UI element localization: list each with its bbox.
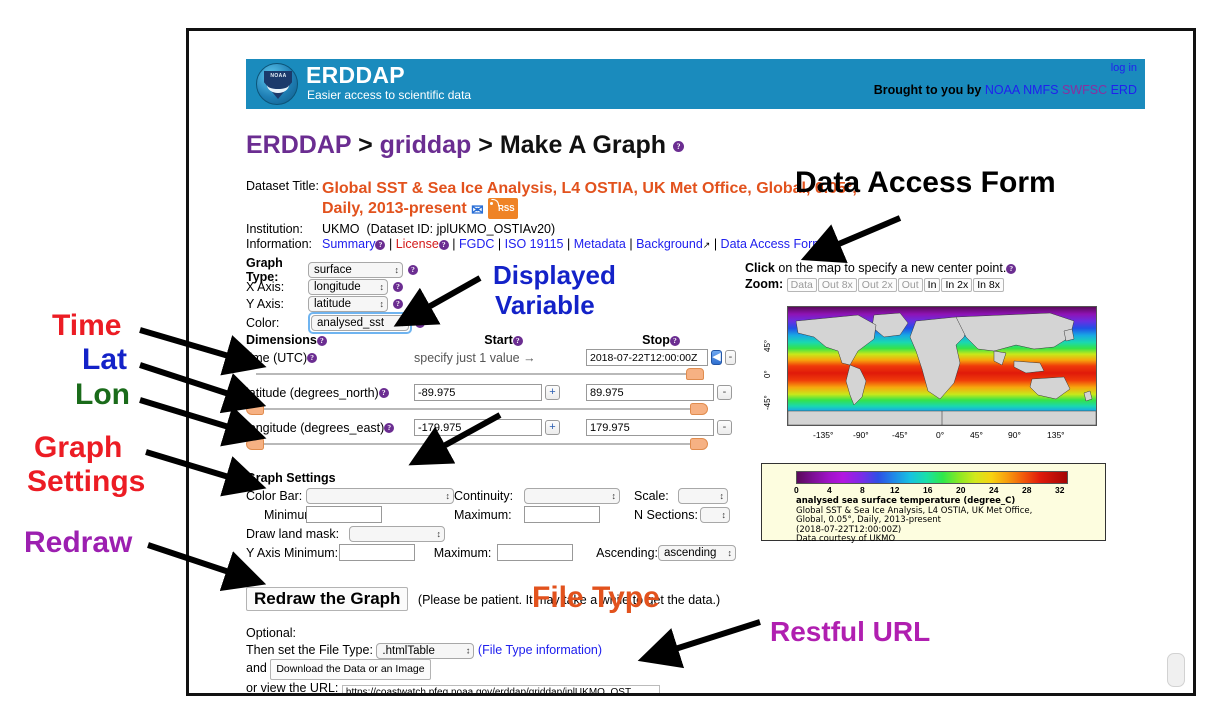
sst-heatmap-svg [788,307,1096,425]
optional-section: Optional: Then set the File Type: .htmlT… [246,625,660,696]
graph-type-row: Graph Type: surface ? [246,261,716,278]
stop-help-icon[interactable]: ? [670,336,680,346]
latitude-minus-button[interactable]: - [717,385,732,400]
url-row: or view the URL: [246,680,660,696]
dimensions-header-label: Dimensions? [246,333,421,347]
app-subtitle: Easier access to scientific data [307,88,471,102]
color-help-icon[interactable]: ? [415,318,425,328]
land-mask-label: Draw land mask: [246,527,349,541]
start-header-label: Start? [421,333,586,347]
rss-icon[interactable]: RSS [488,198,517,219]
colorbar [796,471,1068,484]
map-xtick-90: 90° [1008,430,1021,440]
time-help-icon[interactable]: ? [307,353,317,363]
annotation-displayed-variable-line2: Variable [495,292,595,318]
longitude-slider-thumb-left[interactable] [246,438,264,450]
annotation-restful-url: Restful URL [770,618,930,646]
y-axis-min-row: Y Axis Minimum: Maximum: Ascending: asce… [246,543,736,562]
time-slider-thumb[interactable] [686,368,704,380]
graph-type-form: Graph Type: surface ? X Axis: longitude … [246,261,716,333]
colorbar-caption: analysed sea surface temperature (degree… [796,497,1032,545]
colorbar-tick-8: 8 [860,485,865,495]
time-stop-cell: ◀ - [586,349,736,366]
longitude-stop-cell: - [586,419,736,436]
zoom-out-button[interactable]: Out [898,278,923,292]
dimensions-header: Dimensions? Start? Stop? [246,333,736,347]
map-xtick-0: 0° [936,430,944,440]
y-axis-select[interactable]: latitude [308,296,388,312]
n-sections-select[interactable] [700,507,730,523]
email-icon[interactable]: ✉ [471,201,484,220]
land-mask-select[interactable] [349,526,445,542]
sst-map-figure[interactable]: 45° 0° -45° [761,306,1106,458]
external-link-icon: ↗ [703,240,711,250]
file-type-row: Then set the File Type: .htmlTable (File… [246,642,660,659]
iso19115-link[interactable]: ISO 19115 [505,237,564,251]
maximum-label: Maximum: [454,508,524,522]
annotation-graph-settings-line1: Graph [34,433,122,463]
map-xtick-m45: -45° [892,430,908,440]
graph-settings-title: Graph Settings [246,471,736,485]
map-ytick-45: 45° [763,340,772,352]
annotation-time: Time [52,311,121,341]
zoom-controls: Zoom: DataOut 8xOut 2xOutInIn 2xIn 8x [745,277,1117,292]
file-type-information-link[interactable]: (File Type information) [478,643,602,657]
color-bar-label: Color Bar: [246,489,306,503]
map-xtick-45: 45° [970,430,983,440]
swfsc-link[interactable]: SWFSC [1062,83,1107,97]
colorbar-tick-28: 28 [1022,485,1031,495]
dimensions-help-icon[interactable]: ? [317,336,327,346]
click-help-icon[interactable]: ? [1006,264,1016,274]
graph-type-help-icon[interactable]: ? [408,265,418,275]
annotation-displayed-variable-line1: Displayed [493,262,616,288]
longitude-stop-input[interactable] [586,419,714,436]
information-label: Information: [246,237,322,251]
breadcrumb-sep-1: > [358,131,373,159]
redraw-the-graph-button[interactable]: Redraw the Graph [246,587,408,611]
restful-url-input[interactable] [342,685,660,697]
annotation-graph-settings-line2: Settings [27,467,145,497]
log-in-link[interactable]: log in [1111,62,1137,74]
zoom-out-8x-button[interactable]: Out 8x [818,278,857,292]
y-axis-help-icon[interactable]: ? [393,299,403,309]
time-dimension-label: time (UTC)? [246,351,414,365]
minimum-row: Minimum: Maximum: N Sections: [246,505,736,524]
download-data-or-image-button[interactable]: Download the Data or an Image [270,659,430,680]
colorbar-tick-24: 24 [989,485,998,495]
start-help-icon[interactable]: ? [513,336,523,346]
y-axis-minimum-label: Y Axis Minimum: [246,546,339,560]
latitude-start-input[interactable] [414,384,542,401]
annotation-lat: Lat [82,345,127,375]
time-minus-button[interactable]: - [725,350,736,365]
longitude-minus-button[interactable]: - [717,420,732,435]
maximum-input[interactable] [524,506,600,523]
color-bar-row: Color Bar: Continuity: Scale: [246,486,736,505]
download-row: and Download the Data or an Image [246,659,660,680]
brought-prefix: Brought to you by [874,83,982,97]
map-ytick-0: 0° [763,370,772,378]
x-axis-help-icon[interactable]: ? [393,282,403,292]
latitude-stop-cell: - [586,384,736,401]
ascending-select[interactable]: ascending [658,545,736,561]
longitude-slider-thumb-right[interactable] [690,438,708,450]
annotation-redraw: Redraw [24,528,132,558]
longitude-start-cell: + [414,419,586,436]
latitude-plus-button[interactable]: + [545,385,560,400]
minimum-label: Minimum: [246,508,306,522]
time-specify-note: specify just 1 value → [414,351,536,365]
dataset-title-label: Dataset Title: [246,179,322,220]
continuity-select[interactable] [524,488,620,504]
help-icon[interactable]: ? [673,141,684,152]
map-xtick-m90: -90° [853,430,869,440]
zoom-in-8x-button[interactable]: In 8x [973,278,1004,292]
longitude-start-input[interactable] [414,419,542,436]
colorbar-tick-16: 16 [923,485,932,495]
institution-value: UKMO (Dataset ID: jplUKMO_OSTIAv20) [322,222,555,236]
nmfs-link[interactable]: NMFS [1023,83,1058,97]
land-mask-row: Draw land mask: [246,524,736,543]
dimensions-section: Dimensions? Start? Stop? time (UTC)? spe… [246,333,736,454]
institution-label: Institution: [246,222,322,236]
sst-heatmap-plot[interactable] [787,306,1097,426]
breadcrumb-erddap[interactable]: ERDDAP [246,131,351,159]
map-ytick-m45: -45° [763,395,772,410]
annotation-data-access-form: Data Access Form [795,168,1056,198]
scale-label: Scale: [634,489,678,503]
colorbar-caption-line-4: Data courtesy of UKMO [796,535,1032,545]
optional-title: Optional: [246,625,660,642]
latitude-slider-thumb-left[interactable] [246,403,264,415]
map-xtick-135: 135° [1047,430,1065,440]
longitude-slider[interactable] [246,438,708,450]
color-bar-select[interactable] [306,488,454,504]
background-link[interactable]: Background [636,237,703,251]
time-back-button[interactable]: ◀ [711,350,722,365]
color-row: Color: analysed_sst ? [246,312,716,333]
dimension-row-time: time (UTC)? specify just 1 value → ◀ - [246,349,736,366]
y-axis-maximum-input[interactable] [497,544,573,561]
metadata-link[interactable]: Metadata [574,237,626,251]
breadcrumb-griddap[interactable]: griddap [380,131,472,159]
longitude-help-icon[interactable]: ? [384,423,394,433]
and-label: and [246,661,267,675]
ascending-label: Ascending: [596,546,658,560]
zoom-out-2x-button[interactable]: Out 2x [858,278,897,292]
colorbar-legend-panel: 0 4 8 12 16 20 24 28 32 analysed sea sur… [761,463,1106,541]
annotation-lon: Lon [75,380,130,410]
longitude-plus-button[interactable]: + [545,420,560,435]
fgdc-link[interactable]: FGDC [459,237,494,251]
color-select[interactable]: analysed_sst [311,315,409,331]
zoom-in-2x-button[interactable]: In 2x [941,278,972,292]
dataset-title: Global SST & Sea Ice Analysis, L4 OSTIA,… [322,179,862,220]
latitude-stop-input[interactable] [586,384,714,401]
map-panel: Click on the map to specify a new center… [745,261,1117,292]
y-axis-maximum-label: Maximum: [434,546,497,560]
scrollbar-thumb[interactable] [1167,653,1185,687]
minimum-input[interactable] [306,506,382,523]
colorbar-tick-12: 12 [890,485,899,495]
longitude-dimension-label: longitude (degrees_east)? [246,421,414,435]
graph-type-select[interactable]: surface [308,262,403,278]
map-xtick-m135: -135° [813,430,833,440]
dimension-row-latitude: latitude (degrees_north)? + - [246,384,736,401]
colorbar-tick-4: 4 [827,485,832,495]
time-slider[interactable] [246,368,708,380]
breadcrumb-sep-2: > [478,131,493,159]
app-title: ERDDAP [306,62,405,89]
x-axis-label: X Axis: [246,280,308,294]
erd-link[interactable]: ERD [1111,83,1137,97]
data-access-form-link[interactable]: Data Access Form [721,237,823,251]
latitude-dimension-label: latitude (degrees_north)? [246,386,414,400]
click-bold: Click [745,261,775,275]
color-select-focus-ring: analysed_sst [308,312,412,334]
time-start-cell: specify just 1 value → [414,351,586,365]
zoom-data-button[interactable]: Data [787,278,817,292]
browser-window: NOAA ERDDAP Easier access to scientific … [186,28,1196,696]
license-help-icon[interactable]: ? [439,240,449,250]
file-type-select[interactable]: .htmlTable [376,643,474,659]
or-view-url-label: or view the URL: [246,681,338,695]
x-axis-row: X Axis: longitude ? [246,278,716,295]
summary-link[interactable]: Summary [322,237,375,251]
dimension-row-longitude: longitude (degrees_east)? + - [246,419,736,436]
latitude-help-icon[interactable]: ? [379,388,389,398]
noaa-link[interactable]: NOAA [985,83,1020,97]
n-sections-label: N Sections: [634,508,700,522]
noaa-logo-icon: NOAA [256,63,298,105]
color-label: Color: [246,316,308,330]
erddap-banner: NOAA ERDDAP Easier access to scientific … [246,59,1145,109]
latitude-slider-thumb-right[interactable] [690,403,708,415]
colorbar-tick-32: 32 [1055,485,1064,495]
latitude-start-cell: + [414,384,586,401]
scale-select[interactable] [678,488,728,504]
click-instruction: Click on the map to specify a new center… [745,261,1117,275]
page-title: Make A Graph [500,131,666,159]
colorbar-tick-0: 0 [794,485,799,495]
zoom-in-button[interactable]: In [924,278,941,292]
dataset-info: Dataset Title: Global SST & Sea Ice Anal… [246,179,886,251]
brought-to-you-by: Brought to you by NOAA NMFS SWFSC ERD [874,83,1137,97]
information-links: Summary? | License? | FGDC | ISO 19115 |… [322,237,823,251]
breadcrumb: ERDDAP > griddap > Make A Graph ? [246,131,684,160]
click-rest: on the map to specify a new center point… [778,261,1006,275]
summary-help-icon[interactable]: ? [375,240,385,250]
colorbar-tick-20: 20 [956,485,965,495]
latitude-slider[interactable] [246,403,708,415]
annotation-file-type: File Type [532,583,660,613]
graph-settings-section: Graph Settings Color Bar: Continuity: Sc… [246,471,736,562]
y-axis-label: Y Axis: [246,297,308,311]
file-type-prefix: Then set the File Type: [246,643,373,657]
stop-header-label: Stop? [586,333,736,347]
y-axis-row: Y Axis: latitude ? [246,295,716,312]
continuity-label: Continuity: [454,489,524,503]
x-axis-select[interactable]: longitude [308,279,388,295]
time-stop-input[interactable] [586,349,708,366]
license-link[interactable]: License [396,237,439,251]
y-axis-minimum-input[interactable] [339,544,415,561]
zoom-label: Zoom: [745,277,783,291]
